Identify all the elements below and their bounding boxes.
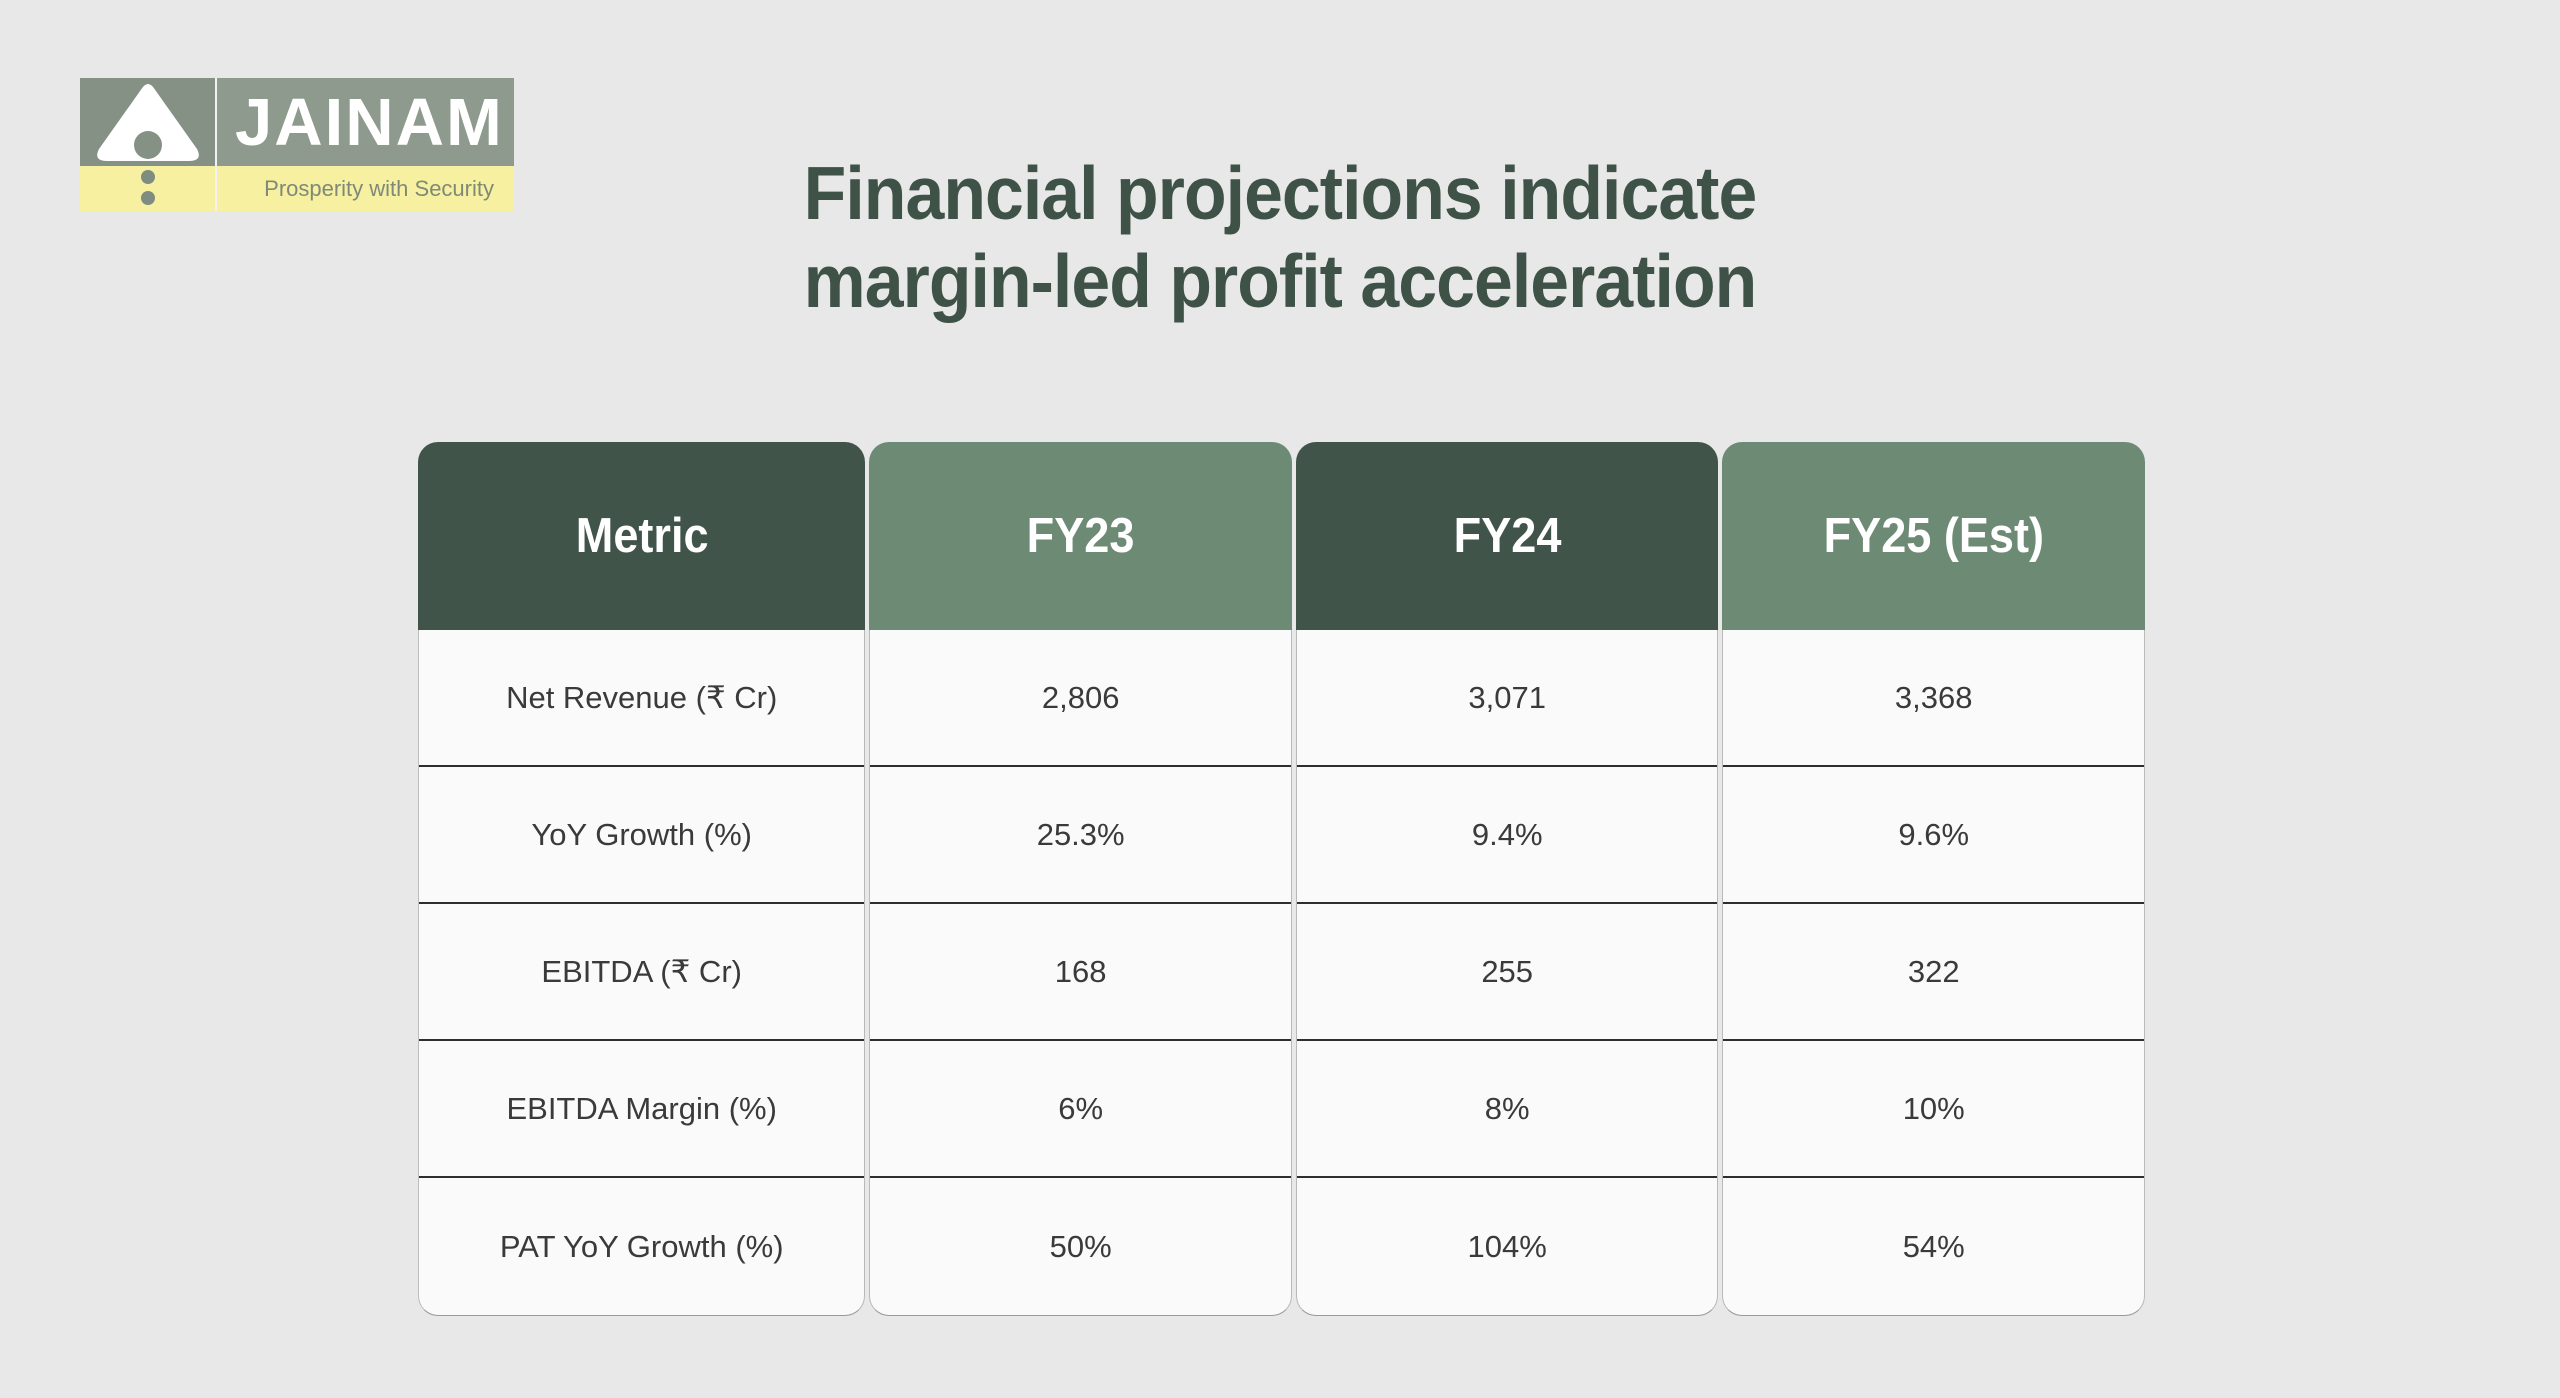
column-header-fy23: FY23 [869,442,1292,630]
table-cell: 54% [1723,1178,2144,1315]
table-column-fy25: FY25 (Est) 3,368 9.6% 322 10% 54% [1722,442,2145,1316]
table-cell: 9.6% [1723,767,2144,904]
table-row: PAT YoY Growth (%) [419,1178,864,1315]
logo-top-band: JAINAM [80,78,514,166]
column-header-fy24: FY24 [1296,442,1719,630]
table-cell: 25.3% [870,767,1291,904]
page-title-line-2: margin-led profit acceleration [685,238,1875,326]
logo-wordmark-text: JAINAM [235,89,504,156]
table-cell: 9.4% [1297,767,1718,904]
column-header-metric-label: Metric [575,508,708,564]
column-header-fy25-label: FY25 (Est) [1823,508,2043,564]
table-cell: 50% [870,1178,1291,1315]
page-title: Financial projections indicate margin-le… [685,150,1875,326]
column-header-fy24-label: FY24 [1453,508,1561,564]
table-cell: 10% [1723,1041,2144,1178]
triangle-icon-svg [89,81,207,163]
table-row: Net Revenue (₹ Cr) [419,630,864,767]
company-logo: JAINAM Prosperity with Security [80,78,514,211]
table-column-metric-body: Net Revenue (₹ Cr) YoY Growth (%) EBITDA… [418,630,865,1316]
table-column-fy25-body: 3,368 9.6% 322 10% 54% [1722,630,2145,1316]
table-column-fy24: FY24 3,071 9.4% 255 8% 104% [1296,442,1719,1316]
column-header-fy23-label: FY23 [1027,508,1135,564]
table-cell: 8% [1297,1041,1718,1178]
table-cell: 3,071 [1297,630,1718,767]
table-column-metric: Metric Net Revenue (₹ Cr) YoY Growth (%)… [418,442,865,1316]
table-cell: 104% [1297,1178,1718,1315]
logo-tagline-text: Prosperity with Security [264,178,494,200]
triangle-circle-icon [80,78,215,166]
table-column-fy24-body: 3,071 9.4% 255 8% 104% [1296,630,1719,1316]
column-header-metric: Metric [418,442,865,630]
table-cell: 322 [1723,904,2144,1041]
logo-tagline: Prosperity with Security [215,166,514,211]
logo-wordmark: JAINAM [215,78,514,166]
table-row: YoY Growth (%) [419,767,864,904]
logo-dot-upper [141,170,155,184]
table-column-fy23: FY23 2,806 25.3% 168 6% 50% [869,442,1292,1316]
slide-canvas: JAINAM Prosperity with Security Financia… [0,0,2560,1398]
table-cell: 2,806 [870,630,1291,767]
financial-projections-table: Metric Net Revenue (₹ Cr) YoY Growth (%)… [418,442,2145,1316]
page-title-line-1: Financial projections indicate [685,150,1875,238]
table-row: EBITDA Margin (%) [419,1041,864,1178]
table-cell: 3,368 [1723,630,2144,767]
table-column-fy23-body: 2,806 25.3% 168 6% 50% [869,630,1292,1316]
table-row: EBITDA (₹ Cr) [419,904,864,1041]
logo-bottom-band: Prosperity with Security [80,166,514,211]
logo-dots [80,166,215,211]
table-cell: 168 [870,904,1291,1041]
table-cell: 6% [870,1041,1291,1178]
table-cell: 255 [1297,904,1718,1041]
column-header-fy25: FY25 (Est) [1722,442,2145,630]
logo-dot-lower [141,191,155,205]
